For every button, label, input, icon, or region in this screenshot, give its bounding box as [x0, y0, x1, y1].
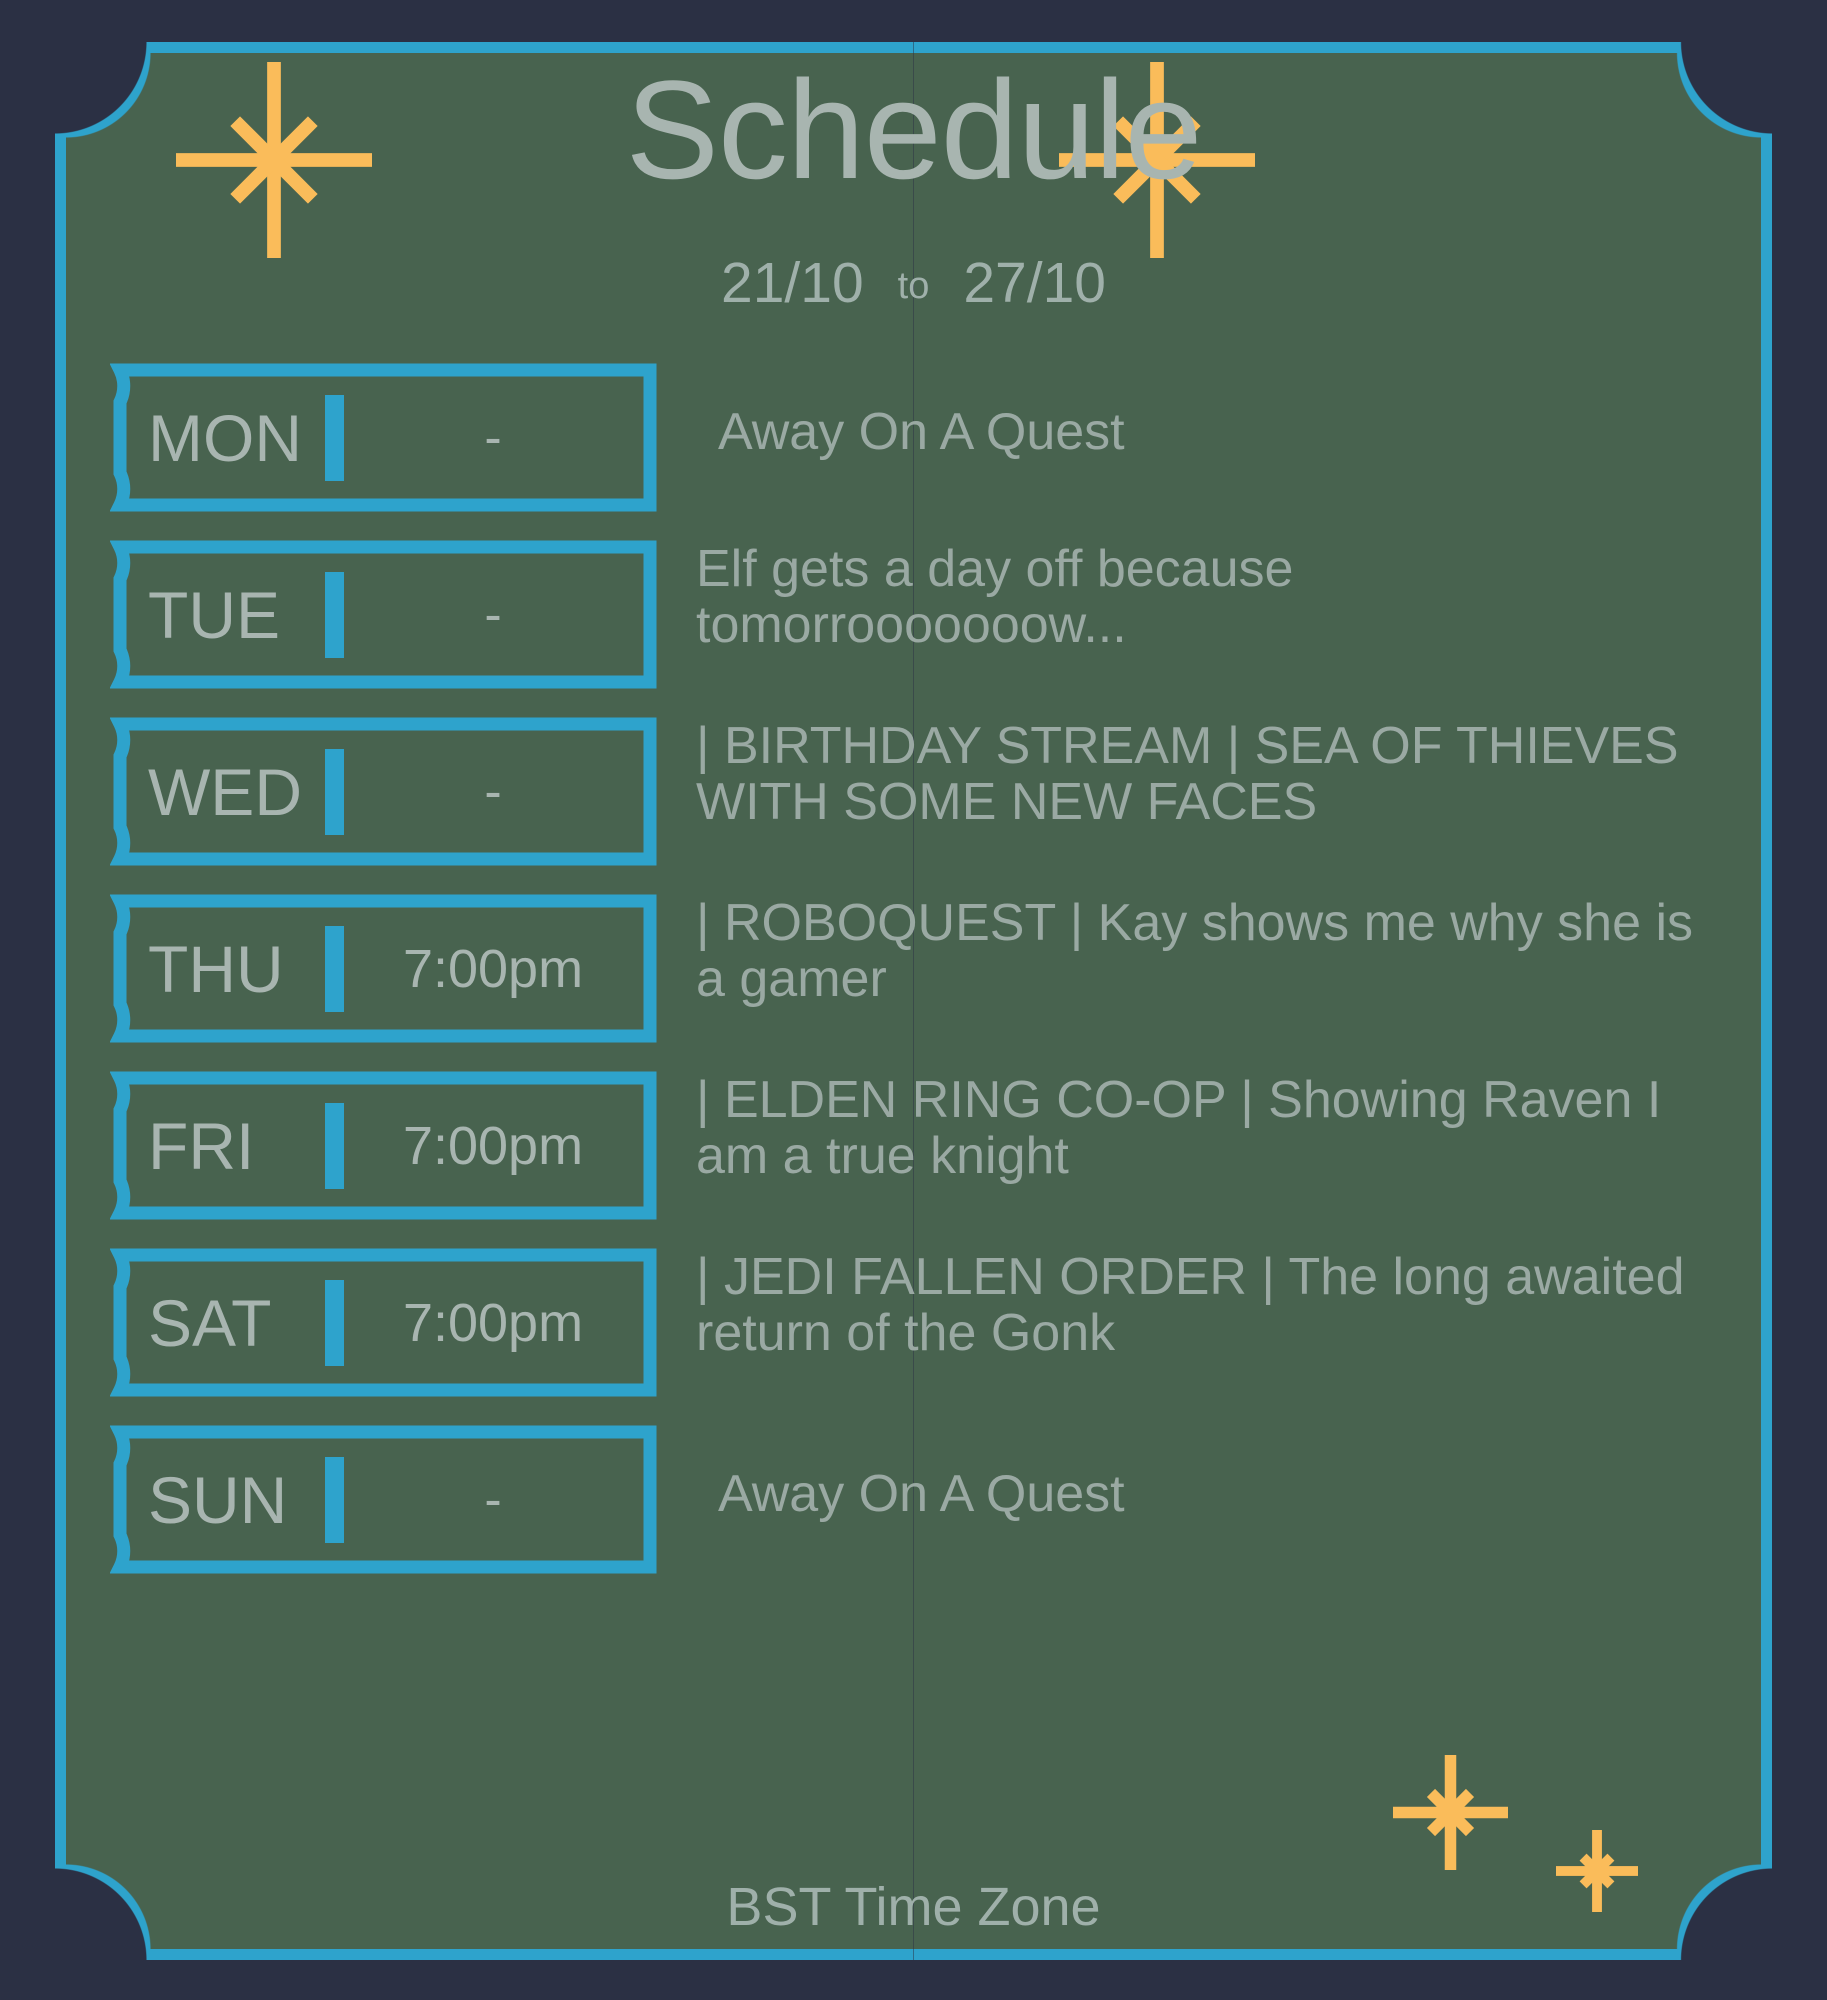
day-badge-content: FRI 7:00pm [110, 1068, 660, 1223]
stream-description: Away On A Quest [696, 1422, 1717, 1522]
badge-divider [325, 1280, 344, 1366]
day-badge-content: MON - [110, 360, 660, 515]
stream-description: | JEDI FALLEN ORDER | The long awaited r… [696, 1245, 1717, 1361]
badge-divider [325, 572, 344, 658]
day-label: MON [110, 405, 325, 471]
schedule-row-tue: TUE - Elf gets a day off because tomorro… [0, 537, 1827, 692]
time-label: 7:00pm [344, 1119, 660, 1173]
badge-divider [325, 1457, 344, 1543]
time-label: - [344, 1474, 660, 1526]
badge-divider [325, 749, 344, 835]
day-label: SUN [110, 1467, 325, 1533]
time-label: - [344, 412, 660, 464]
date-from: 21/10 [717, 251, 868, 315]
day-badge[interactable]: SUN - [110, 1422, 660, 1577]
time-label: - [344, 766, 660, 818]
day-label: WED [110, 759, 325, 825]
day-label: SAT [110, 1290, 325, 1356]
day-badge-content: WED - [110, 714, 660, 869]
page-title: Schedule [0, 60, 1827, 200]
badge-divider [325, 395, 344, 481]
stream-description: Elf gets a day off because tomorrooooooo… [696, 537, 1717, 653]
day-badge[interactable]: WED - [110, 714, 660, 869]
date-to: 27/10 [959, 251, 1110, 315]
day-label: THU [110, 936, 325, 1002]
day-label: TUE [110, 582, 325, 648]
badge-divider [325, 1103, 344, 1189]
day-badge-content: TUE - [110, 537, 660, 692]
stream-description: | ROBOQUEST | Kay shows me why she is a … [696, 891, 1717, 1007]
timezone-note: BST Time Zone [0, 1876, 1827, 1938]
stream-description: | BIRTHDAY STREAM | SEA OF THIEVES WITH … [696, 714, 1717, 830]
date-separator: to [868, 265, 960, 307]
schedule-row-wed: WED - | BIRTHDAY STREAM | SEA OF THIEVES… [0, 714, 1827, 869]
schedule-row-mon: MON - Away On A Quest [0, 360, 1827, 515]
day-badge[interactable]: MON - [110, 360, 660, 515]
time-label: 7:00pm [344, 942, 660, 996]
day-badge[interactable]: THU 7:00pm [110, 891, 660, 1046]
stream-description: Away On A Quest [696, 360, 1717, 460]
schedule-graphic: Schedule 21/10to27/10 MON - Away On A Qu… [0, 0, 1827, 2000]
schedule-row-fri: FRI 7:00pm | ELDEN RING CO-OP | Showing … [0, 1068, 1827, 1223]
day-badge[interactable]: SAT 7:00pm [110, 1245, 660, 1400]
day-badge-content: SUN - [110, 1422, 660, 1577]
schedule-row-sat: SAT 7:00pm | JEDI FALLEN ORDER | The lon… [0, 1245, 1827, 1400]
schedule-row-sun: SUN - Away On A Quest [0, 1422, 1827, 1577]
schedule-row-thu: THU 7:00pm | ROBOQUEST | Kay shows me wh… [0, 891, 1827, 1046]
badge-divider [325, 926, 344, 1012]
day-badge-content: THU 7:00pm [110, 891, 660, 1046]
day-badge-content: SAT 7:00pm [110, 1245, 660, 1400]
day-badge[interactable]: TUE - [110, 537, 660, 692]
sparkle-bottom-large-icon [1393, 1755, 1508, 1870]
stream-description: | ELDEN RING CO-OP | Showing Raven I am … [696, 1068, 1717, 1184]
time-label: 7:00pm [344, 1296, 660, 1350]
date-range: 21/10to27/10 [0, 255, 1827, 312]
time-label: - [344, 589, 660, 641]
day-label: FRI [110, 1113, 325, 1179]
day-badge[interactable]: FRI 7:00pm [110, 1068, 660, 1223]
schedule-list: MON - Away On A Quest TUE - Elf gets a d… [0, 360, 1827, 1599]
